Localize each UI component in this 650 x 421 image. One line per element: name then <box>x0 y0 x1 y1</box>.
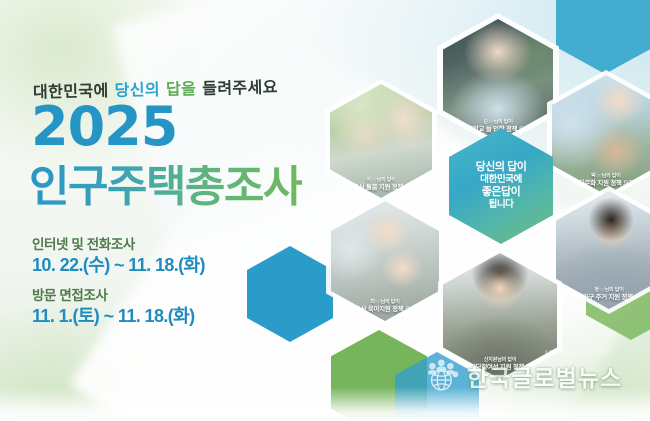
page-title: 인구주택총조사 <box>29 165 302 209</box>
schedule-date: 10. 22.(수) ~ 11. 18.(화) <box>32 254 205 277</box>
schedule-item-visit-interview: 방문 면접조사 11. 1.(토) ~ 11. 18.(화) <box>32 288 205 328</box>
schedule-label: 방문 면접조사 <box>32 288 205 305</box>
slogan-line-1: 당신의 답이 <box>476 161 527 174</box>
schedule-date: 11. 1.(토) ~ 11. 18.(화) <box>32 305 205 328</box>
watermark-subtext: KOREA GLOBAL NEWS <box>545 350 610 356</box>
schedule-label: 인터넷 및 전화조사 <box>32 237 205 254</box>
bottom-fade <box>0 387 650 421</box>
slogan-line-4: 됩니다 <box>489 199 514 211</box>
slogan-line-3: 좋은답이 <box>482 186 520 199</box>
schedule-item-internet-phone: 인터넷 및 전화조사 10. 22.(수) ~ 11. 18.(화) <box>32 237 205 277</box>
schedule-list: 인터넷 및 전화조사 10. 22.(수) ~ 11. 18.(화) 방문 면접… <box>32 237 205 340</box>
poster-year: 2025 <box>31 100 177 154</box>
tagline-part-4: 들려주세요 <box>202 77 278 98</box>
slogan-line-2: 대한민국에 <box>480 174 522 186</box>
census-poster: 이○○님의 답이 어르신 돌봄 지원 정책 으로 김○○님의 답이 대학교 늘 … <box>0 0 650 421</box>
